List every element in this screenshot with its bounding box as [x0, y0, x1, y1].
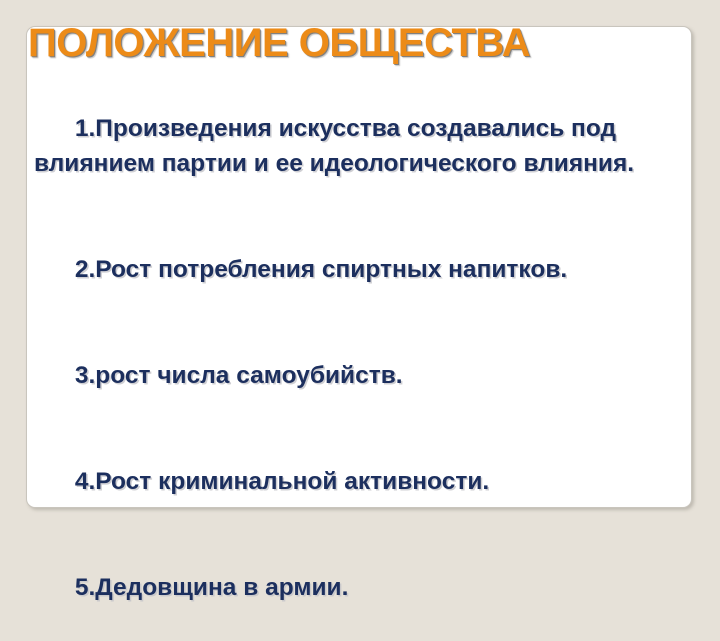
list-item: 3.рост числа самоубийств.: [0, 323, 700, 428]
list-item-number: 1.: [75, 115, 95, 142]
list-item-text: рост числа самоубийств.: [95, 362, 402, 389]
list-item-text: Рост потребления спиртных напитков.: [95, 256, 567, 283]
numbered-list: 1.Произведения искусства создавались под…: [0, 76, 700, 641]
list-item-number: 2.: [75, 256, 95, 283]
list-item-text: Произведения искусства создавались под в…: [34, 115, 634, 177]
list-item: 2.Рост потребления спиртных напитков.: [0, 217, 700, 322]
slide-canvas: ПОЛОЖЕНИЕ ОБЩЕСТВА 1.Произведения искусс…: [0, 0, 720, 540]
list-item-text: Дедовщина в армии.: [95, 574, 348, 601]
page-title: ПОЛОЖЕНИЕ ОБЩЕСТВА: [28, 21, 692, 67]
list-item: 1.Произведения искусства создавались под…: [0, 76, 700, 216]
list-item: 5.Дедовщина в армии.: [0, 535, 700, 640]
list-item-text: Рост криминальной активности.: [95, 468, 489, 495]
list-item-number: 3.: [75, 362, 95, 389]
list-item-number: 4.: [75, 468, 95, 495]
list-item: 4.Рост криминальной активности.: [0, 429, 700, 534]
list-item-number: 5.: [75, 574, 95, 601]
